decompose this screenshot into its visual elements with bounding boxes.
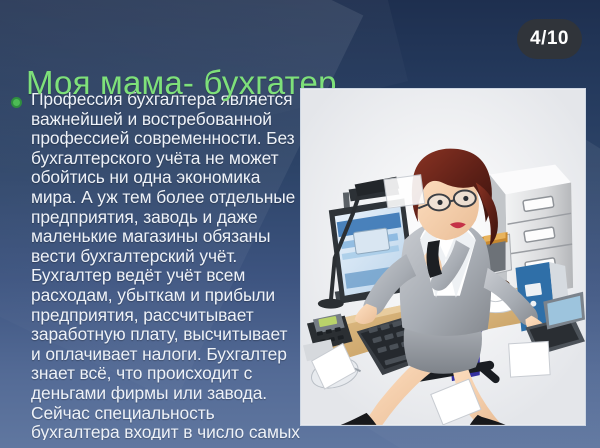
slide-body-text: Профессия бухгалтера является важнейшей … — [31, 90, 300, 440]
page-counter-badge: 4/10 — [517, 19, 582, 59]
busy-accountant-woman-illustration — [300, 88, 586, 426]
slide-viewer: 4/10 Моя мама- бухгатер. Профессия бухга… — [0, 0, 600, 448]
bullet-paragraph: Профессия бухгалтера является важнейшей … — [8, 90, 300, 440]
bullet-target-icon — [11, 97, 22, 108]
